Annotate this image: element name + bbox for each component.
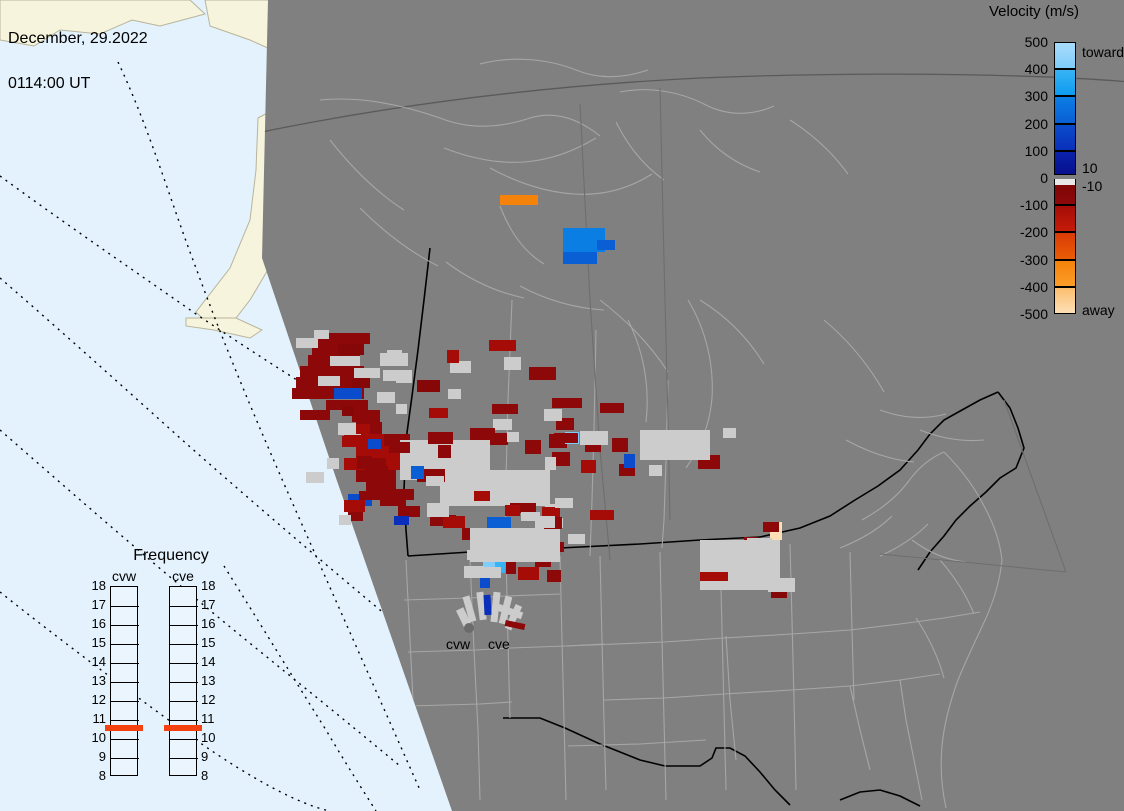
frequency-scale-label: 13 [201,673,221,688]
colorbar-segment [1054,260,1076,287]
colorbar-tick-label: 500 [1004,34,1048,50]
frequency-scale-label: 11 [201,711,221,726]
frequency-gridline [170,606,198,607]
frequency-gridline [111,720,139,721]
colorbar-tick-label: 0 [1004,170,1048,186]
frequency-scale-label: 17 [201,597,221,612]
frequency-scale-label: 17 [86,597,106,612]
station-label-cvw: cvw [446,636,470,652]
frequency-gridline [170,644,198,645]
frequency-title: Frequency [96,547,246,565]
frequency-legend: Frequency cvw cve 1818171716161515141413… [96,547,246,787]
frequency-scale-label: 10 [86,730,106,745]
frequency-scale-label: 9 [86,749,106,764]
frequency-marker [105,725,143,731]
colorbar-lower-threshold: -10 [1082,178,1102,194]
colorbar-segment [1054,42,1076,69]
colorbar-zero-gap [1054,179,1076,185]
frequency-radar-cve-label: cve [162,568,204,584]
frequency-gridline [111,758,139,759]
colorbar-segment [1054,124,1076,151]
colorbar-tick-label: -100 [1004,197,1048,213]
colorbar-segment [1054,69,1076,96]
frequency-gridline [111,701,139,702]
frequency-scale-label: 8 [201,768,221,783]
colorbar-tick-label: -200 [1004,224,1048,240]
colorbar-toward-label: toward [1082,44,1124,60]
frequency-scale-label: 16 [86,616,106,631]
colorbar-tick-label: -300 [1004,252,1048,268]
frequency-scale-label: 15 [201,635,221,650]
frequency-scale-label: 10 [201,730,221,745]
frequency-gridline [170,701,198,702]
frequency-bar-cve [169,586,197,776]
frequency-scale-label: 18 [86,578,106,593]
frequency-scale-label: 13 [86,673,106,688]
colorbar-upper-threshold: 10 [1082,160,1098,176]
timestamp-header: December, 29.2022 0114:00 UT [8,1,148,121]
frequency-gridline [111,682,139,683]
frequency-gridline [111,606,139,607]
header-time: 0114:00 UT [8,76,148,91]
colorbar-tick-label: 300 [1004,88,1048,104]
frequency-gridline [170,682,198,683]
frequency-scale-label: 14 [86,654,106,669]
frequency-gridline [111,625,139,626]
frequency-gridline [111,739,139,740]
frequency-scale-label: 16 [201,616,221,631]
colorbar-tick-label: -400 [1004,279,1048,295]
frequency-scale-label: 9 [201,749,221,764]
frequency-scale-label: 12 [201,692,221,707]
colorbar-tick-label: -500 [1004,306,1048,322]
colorbar-gradient [1054,42,1076,314]
station-label-cve: cve [488,636,510,652]
frequency-scale-label: 18 [201,578,221,593]
colorbar-segment [1054,205,1076,232]
fan-plot-canvas: December, 29.2022 0114:00 UT Velocity (m… [0,0,1124,811]
frequency-scale-label: 12 [86,692,106,707]
colorbar-segment [1054,151,1076,175]
colorbar-segment [1054,287,1076,314]
colorbar-segment [1054,96,1076,123]
frequency-gridline [170,663,198,664]
frequency-marker [164,725,202,731]
frequency-scale-label: 14 [201,654,221,669]
frequency-scale-label: 11 [86,711,106,726]
colorbar-tick-label: 100 [1004,143,1048,159]
colorbar-tick-label: 200 [1004,116,1048,132]
frequency-gridline [111,644,139,645]
frequency-scale-label: 8 [86,768,106,783]
header-date: December, 29.2022 [8,31,148,46]
frequency-gridline [170,625,198,626]
frequency-gridline [170,758,198,759]
colorbar-away-label: away [1082,302,1115,318]
frequency-bar-cvw [110,586,138,776]
frequency-scale-label: 15 [86,635,106,650]
colorbar-tick-label: 400 [1004,61,1048,77]
colorbar-title: Velocity (m/s) [960,3,1108,20]
colorbar-segment [1054,232,1076,259]
frequency-radar-cvw-label: cvw [103,568,145,584]
frequency-gridline [111,663,139,664]
frequency-gridline [170,720,198,721]
frequency-gridline [170,739,198,740]
